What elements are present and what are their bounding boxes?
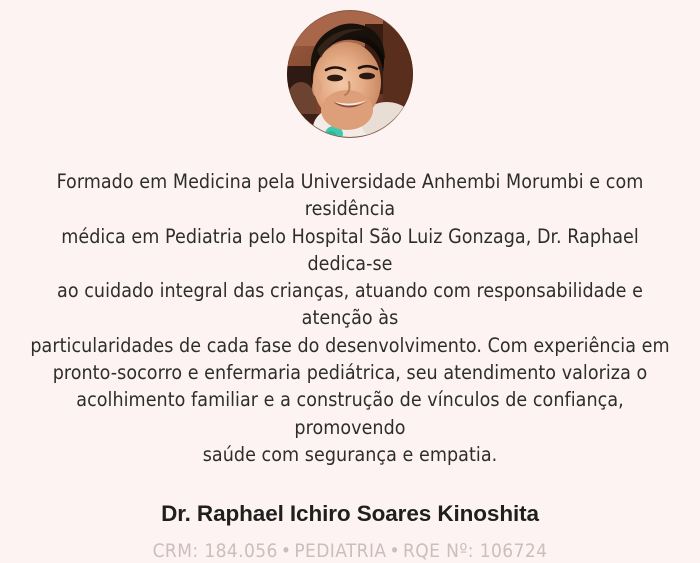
bio-line: acolhimento familiar e a construção de v… — [30, 386, 670, 441]
bio-line: particularidades de cada fase do desenvo… — [30, 332, 670, 359]
bio-line: Formado em Medicina pela Universidade An… — [30, 168, 670, 223]
credential-crm: CRM: 184.056 — [153, 540, 278, 562]
bio-line: médica em Pediatria pelo Hospital São Lu… — [30, 223, 670, 278]
avatar — [287, 10, 413, 138]
doctor-profile-card: Formado em Medicina pela Universidade An… — [0, 0, 700, 506]
doctor-credentials: CRM: 184.056•PEDIATRIA•RQE Nº: 106724 — [153, 539, 548, 563]
doctor-bio: Formado em Medicina pela Universidade An… — [30, 168, 670, 468]
credential-rqe: RQE Nº: 106724 — [403, 540, 547, 562]
doctor-portrait-photo-icon — [287, 10, 413, 138]
bio-line: pronto-socorro e enfermaria pediátrica, … — [30, 359, 670, 386]
credential-separator-2: • — [386, 540, 403, 562]
bio-line: saúde com segurança e empatia. — [30, 441, 670, 468]
bio-line: ao cuidado integral das crianças, atuand… — [30, 277, 670, 332]
credential-specialty: PEDIATRIA — [294, 540, 386, 562]
doctor-name: Dr. Raphael Ichiro Soares Kinoshita — [161, 501, 539, 527]
credential-separator-1: • — [278, 540, 295, 562]
